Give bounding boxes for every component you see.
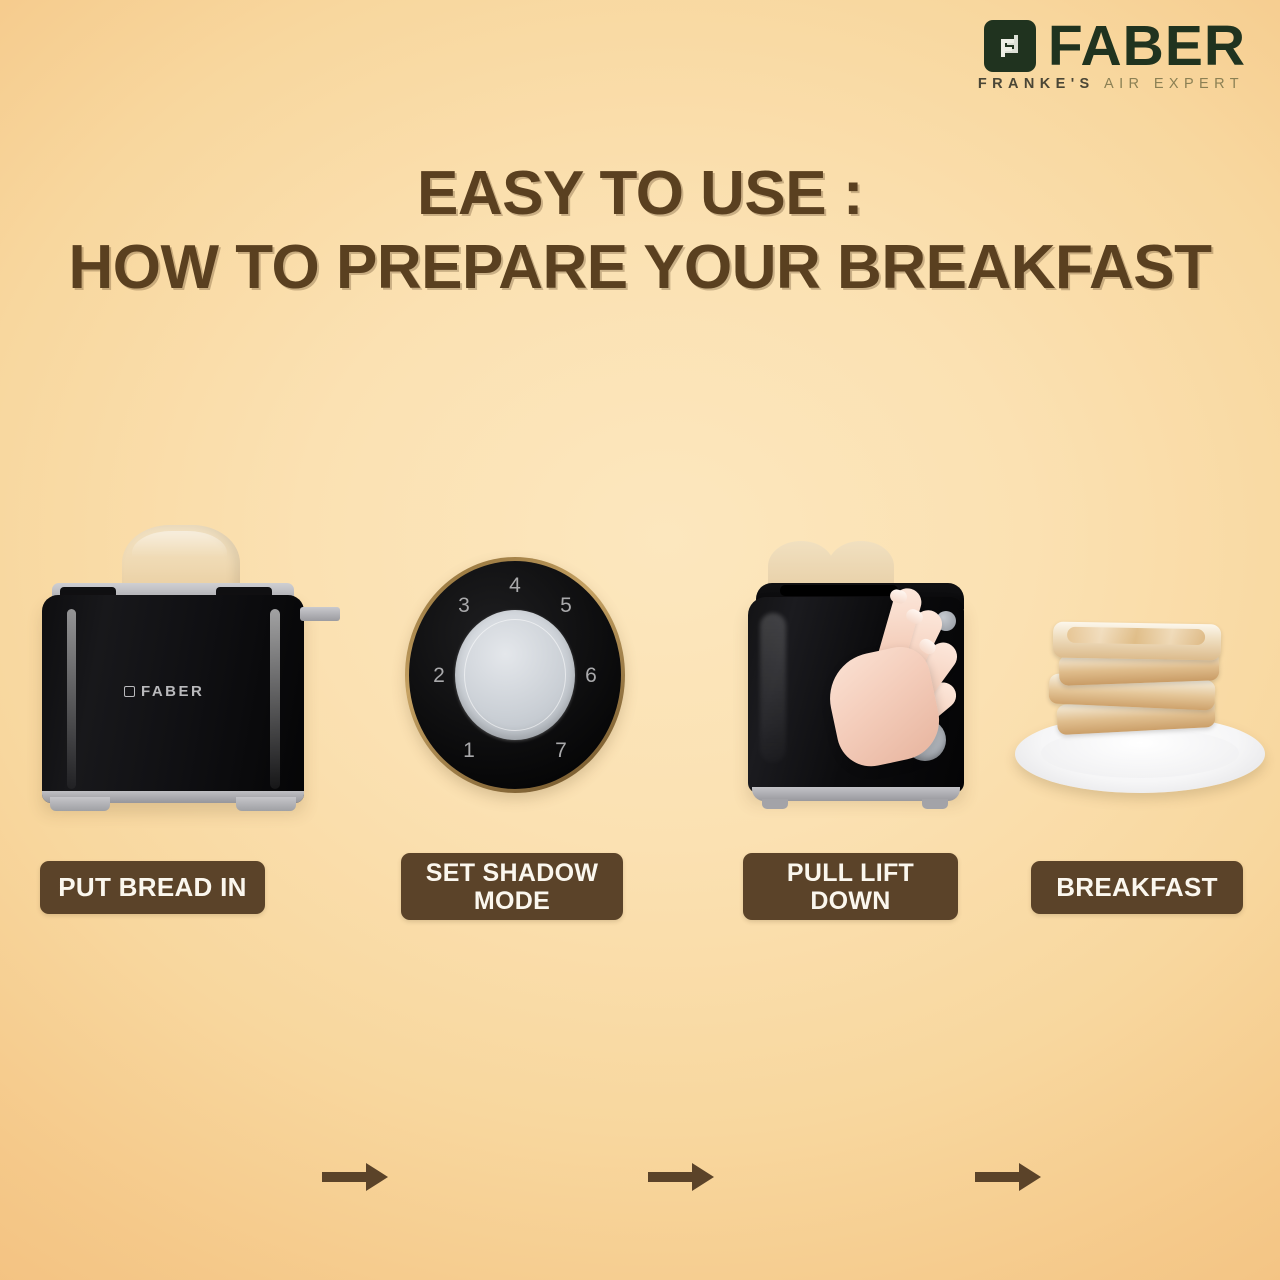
toast-stack-illustration bbox=[1012, 505, 1268, 835]
step-1-label: PUT BREAD IN bbox=[40, 861, 265, 914]
dial-number-1: 1 bbox=[456, 740, 482, 761]
toaster-with-hand-illustration bbox=[720, 505, 990, 835]
dial-number-2: 2 bbox=[426, 665, 452, 686]
toaster-highlight-right bbox=[270, 609, 280, 789]
logo-tagline-secondary: AIR EXPERT bbox=[1104, 76, 1244, 92]
toaster3-foot-left bbox=[762, 799, 788, 809]
dial-number-7: 7 bbox=[548, 740, 574, 761]
step-1-label-line-1: PUT BREAD IN bbox=[58, 873, 247, 902]
step-3-label: PULL LIFT DOWN bbox=[743, 853, 958, 920]
toaster-lever bbox=[300, 607, 340, 621]
step-2-set-shadow-mode: 1 2 3 4 5 6 7 bbox=[390, 505, 640, 835]
dial-number-6: 6 bbox=[578, 665, 604, 686]
toaster-with-bread-illustration: FABER bbox=[14, 505, 344, 835]
page-title-line-2: HOW TO PREPARE YOUR BREAKFAST bbox=[0, 232, 1280, 303]
logo-tagline-primary: FRANKE'S bbox=[978, 76, 1095, 92]
step-2-label: SET SHADOW MODE bbox=[401, 853, 623, 920]
step-4-label: BREAKFAST bbox=[1031, 861, 1243, 914]
step-3-label-line-1: PULL LIFT bbox=[787, 859, 914, 887]
toaster-foot-left bbox=[50, 797, 110, 811]
dial-number-4: 4 bbox=[502, 575, 528, 596]
dial-knob[interactable] bbox=[455, 610, 575, 740]
logo-tagline: FRANKE'S AIR EXPERT bbox=[978, 76, 1246, 92]
toaster3-foot-right bbox=[922, 799, 948, 809]
toaster-foot-right bbox=[236, 797, 296, 811]
toaster-brand-badge: FABER bbox=[124, 683, 254, 700]
toast-slice-4 bbox=[1053, 622, 1222, 661]
step-3-pull-lift-down bbox=[720, 505, 990, 835]
logo-wordmark: FABER bbox=[1048, 20, 1246, 72]
dial-number-3: 3 bbox=[451, 595, 477, 616]
arrow-step-1-to-2 bbox=[322, 1160, 390, 1194]
arrow-step-3-to-4 bbox=[975, 1160, 1043, 1194]
faber-monogram-icon bbox=[984, 20, 1036, 72]
step-3-label-line-2: DOWN bbox=[810, 887, 890, 915]
step-4-breakfast bbox=[1012, 505, 1268, 835]
dial-number-5: 5 bbox=[553, 595, 579, 616]
step-2-label-line-1: SET SHADOW bbox=[426, 859, 598, 887]
toaster-brand-text: FABER bbox=[141, 683, 204, 700]
toaster3-highlight bbox=[760, 613, 786, 763]
browning-dial-illustration: 1 2 3 4 5 6 7 bbox=[390, 505, 640, 835]
step-2-label-line-2: MODE bbox=[474, 887, 550, 915]
page-title-line-1: EASY TO USE : bbox=[0, 158, 1280, 229]
logo-row: FABER bbox=[978, 20, 1246, 72]
toaster-highlight-left bbox=[67, 609, 76, 789]
brand-logo: FABER FRANKE'S AIR EXPERT bbox=[978, 20, 1246, 92]
toaster-brand-mark-icon bbox=[124, 686, 135, 697]
arrow-step-2-to-3 bbox=[648, 1160, 716, 1194]
hand-icon bbox=[826, 585, 962, 771]
step-1-put-bread-in: FABER bbox=[14, 505, 344, 835]
step-4-label-line-1: BREAKFAST bbox=[1056, 873, 1218, 902]
